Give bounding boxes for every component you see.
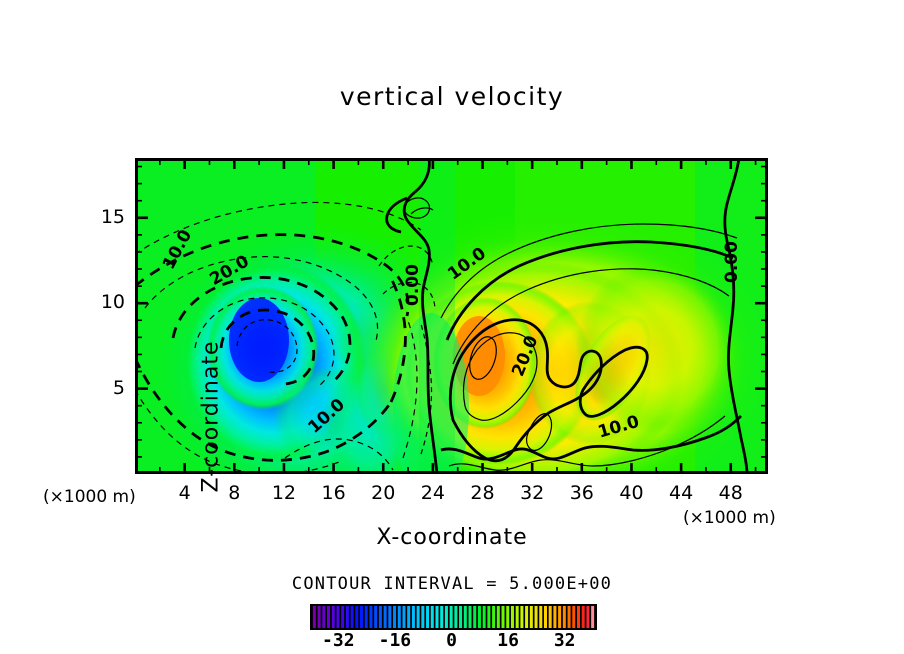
colorbar-band	[341, 606, 344, 628]
colorbar-band	[497, 606, 500, 628]
colorbar-band	[365, 606, 368, 628]
colorbar-band	[558, 606, 561, 628]
colorbar-band	[468, 606, 471, 628]
colorbar-band	[421, 606, 424, 628]
colorbar-tick-labels: -32-1601632	[310, 630, 593, 652]
colorbar-band	[336, 606, 339, 628]
x-tick-label: 12	[264, 482, 304, 504]
colorbar-band	[591, 606, 594, 628]
x-tick-label: 24	[413, 482, 453, 504]
contour-label: 0.00	[722, 241, 742, 283]
colorbar-band	[369, 606, 372, 628]
colorbar-band	[549, 606, 552, 628]
colorbar-band	[351, 606, 354, 628]
colorbar-band	[492, 606, 495, 628]
x-tick-label: 36	[562, 482, 602, 504]
colorbar-band	[435, 606, 438, 628]
x-tick-label: 44	[661, 482, 701, 504]
colorbar-band	[539, 606, 542, 628]
colorbar-band	[525, 606, 528, 628]
colorbar-band	[360, 606, 363, 628]
colorbar-band	[530, 606, 533, 628]
colorbar	[310, 604, 597, 630]
x-tick-label: 48	[711, 482, 751, 504]
y-axis-label: Z-coordinate	[199, 327, 224, 507]
y-tick-label: 10	[85, 291, 125, 313]
colorbar-band	[412, 606, 415, 628]
colorbar-band	[398, 606, 401, 628]
colorbar-band	[393, 606, 396, 628]
x-axis-label: X-coordinate	[0, 525, 904, 550]
colorbar-band	[478, 606, 481, 628]
x-tick-label: 16	[314, 482, 354, 504]
x-tick-label: 32	[512, 482, 552, 504]
contour-plot-canvas: 10.020.010.00.0010.020.010.00.00	[135, 158, 768, 474]
colorbar-band	[544, 606, 547, 628]
colorbar-band	[445, 606, 448, 628]
colorbar-band	[426, 606, 429, 628]
contour-interval-caption: CONTOUR INTERVAL = 5.000E+00	[0, 574, 904, 594]
colorbar-band	[355, 606, 358, 628]
x-tick-label: 28	[463, 482, 503, 504]
colorbar-band	[563, 606, 566, 628]
colorbar-band	[327, 606, 330, 628]
colorbar-band	[388, 606, 391, 628]
colorbar-band	[450, 606, 453, 628]
colorbar-tick-label: -32	[313, 630, 363, 651]
colorbar-band	[431, 606, 434, 628]
colorbar-band	[487, 606, 490, 628]
contour-plot: 10.020.010.00.0010.020.010.00.00 Z-coord…	[135, 158, 768, 474]
y-tick-label: 15	[85, 206, 125, 228]
colorbar-band	[520, 606, 523, 628]
colorbar-band	[502, 606, 505, 628]
x-tick-label: 4	[165, 482, 205, 504]
colorbar-swatches	[312, 606, 595, 628]
colorbar-band	[586, 606, 589, 628]
colorbar-band	[313, 606, 316, 628]
colorbar-band	[577, 606, 580, 628]
colorbar-band	[407, 606, 410, 628]
x-tick-label: 8	[214, 482, 254, 504]
colorbar-band	[318, 606, 321, 628]
colorbar-band	[440, 606, 443, 628]
colorbar-band	[516, 606, 519, 628]
colorbar-band	[454, 606, 457, 628]
x-tick-label: 20	[363, 482, 403, 504]
colorbar-band	[553, 606, 556, 628]
colorbar-band	[322, 606, 325, 628]
colorbar-band	[572, 606, 575, 628]
x-tick-label: 40	[611, 482, 651, 504]
y-tick-label: 5	[85, 377, 125, 399]
page-title: vertical velocity	[0, 82, 904, 111]
colorbar-band	[506, 606, 509, 628]
colorbar-band	[473, 606, 476, 628]
colorbar-band	[402, 606, 405, 628]
contour-label: 0.00	[403, 264, 423, 306]
colorbar-band	[568, 606, 571, 628]
colorbar-tick-label: -16	[370, 630, 420, 651]
colorbar-tick-label: 16	[483, 630, 533, 651]
colorbar-band	[459, 606, 462, 628]
x-units-right: (×1000 m)	[683, 508, 776, 528]
colorbar-band	[417, 606, 420, 628]
colorbar-band	[379, 606, 382, 628]
colorbar-band	[384, 606, 387, 628]
colorbar-tick-label: 0	[427, 630, 477, 651]
colorbar-band	[464, 606, 467, 628]
colorbar-band	[346, 606, 349, 628]
colorbar-band	[374, 606, 377, 628]
x-units-left: (×1000 m)	[43, 487, 136, 507]
colorbar-band	[582, 606, 585, 628]
colorbar-tick-label: 32	[540, 630, 590, 651]
colorbar-band	[535, 606, 538, 628]
colorbar-band	[483, 606, 486, 628]
colorbar-band	[511, 606, 514, 628]
field-colors	[135, 158, 768, 474]
colorbar-band	[332, 606, 335, 628]
